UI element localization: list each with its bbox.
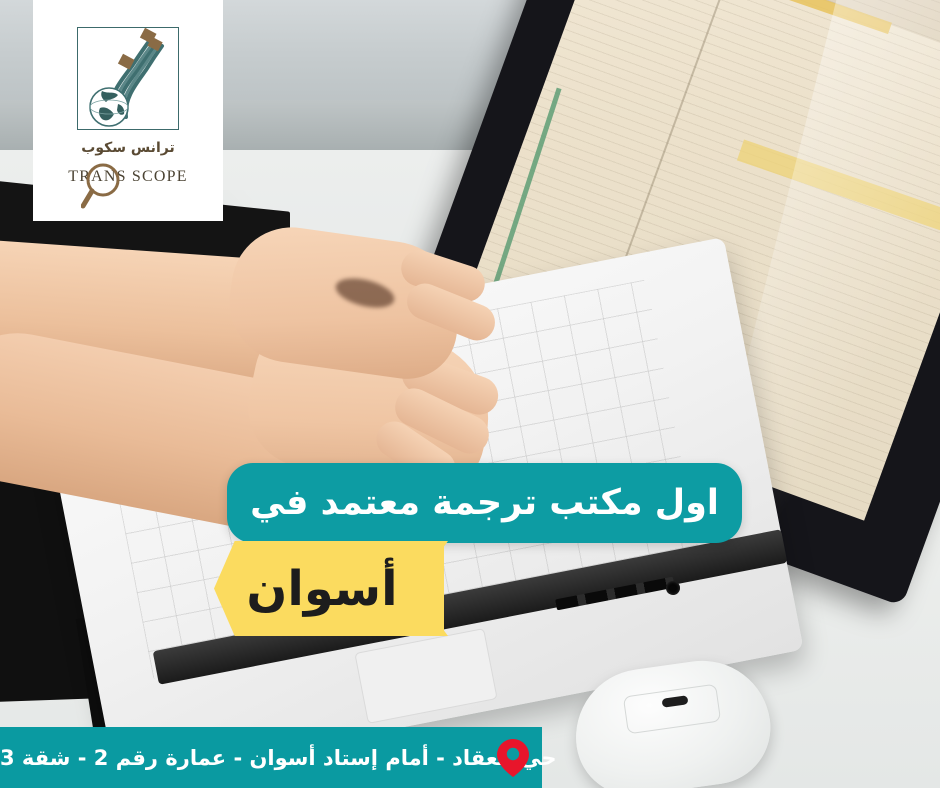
- globe-quill-icon: [78, 28, 178, 129]
- headline-banner-city: أسوان: [214, 541, 444, 636]
- headline-line-1: اول مكتب ترجمة معتمد في: [250, 483, 719, 523]
- address-text: حي العقاد - أمام إستاد أسوان - عمارة رقم…: [0, 727, 486, 788]
- magnifier-icon: [81, 162, 125, 212]
- logo-mark-frame: [77, 27, 179, 130]
- poster-canvas: LG: [0, 0, 940, 788]
- headline-line-2: أسوان: [246, 561, 411, 617]
- logo-card: ترانس سكوب TRANS SCOPE: [33, 0, 223, 221]
- address-bar: حي العقاد - أمام إستاد أسوان - عمارة رقم…: [0, 727, 542, 788]
- headline-banner-primary: اول مكتب ترجمة معتمد في: [227, 463, 742, 543]
- logo-english-name: TRANS SCOPE: [33, 168, 223, 186]
- logo-arabic-name: ترانس سكوب: [33, 140, 223, 156]
- location-pin-icon: [496, 738, 530, 778]
